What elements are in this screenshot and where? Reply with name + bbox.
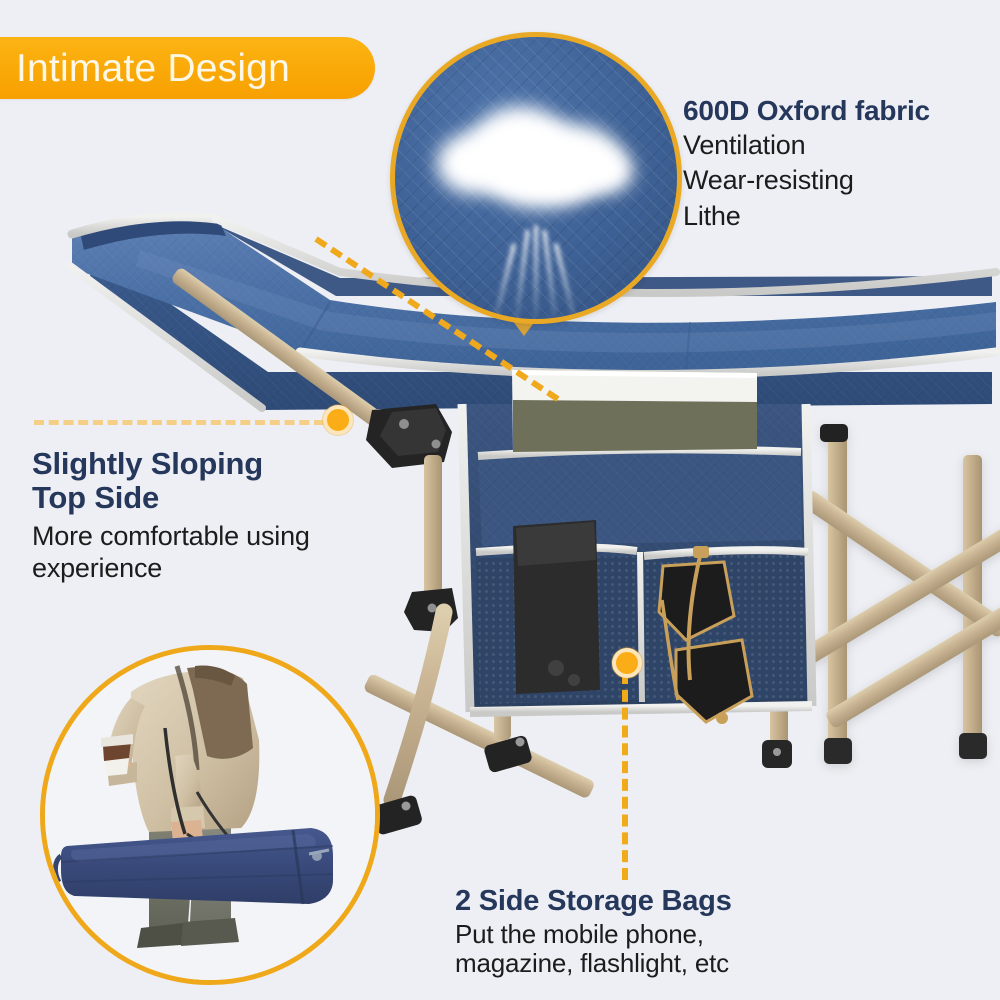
callout-circle-fabric	[390, 32, 682, 324]
leader-dot-bags	[612, 648, 642, 678]
steam-cloud-icon	[431, 99, 641, 224]
callout-text-slope: Slightly Sloping Top Side More comfortab…	[32, 447, 412, 585]
leader-line-bags-vertical	[622, 672, 628, 880]
callout-text-bags: 2 Side Storage Bags Put the mobile phone…	[455, 886, 985, 978]
mobile-phone-in-pocket	[513, 520, 600, 694]
air-flow-lines	[476, 217, 596, 324]
callout-body-bags: Put the mobile phone, magazine, flashlig…	[455, 920, 985, 978]
leader-line-slope-horizontal	[34, 420, 324, 425]
callout-body-slope: More comfortable using experience	[32, 521, 412, 585]
callout-heading-fabric: 600D Oxford fabric	[683, 96, 998, 126]
leader-dot-slope	[323, 405, 353, 435]
chair-frame-right	[794, 424, 1000, 764]
callout-circle-carry-bag	[40, 645, 380, 985]
callout-heading-bags: 2 Side Storage Bags	[455, 886, 985, 917]
infographic-canvas: Intimate Design 600D Oxford fabric Venti…	[0, 0, 1000, 1000]
section-title-label: Intimate Design	[0, 49, 290, 88]
section-title-banner: Intimate Design	[0, 37, 375, 99]
callout-heading-slope: Slightly Sloping Top Side	[32, 447, 412, 515]
callout-text-fabric: 600D Oxford fabric Ventilation Wear-resi…	[683, 96, 998, 235]
magazine-in-pocket	[512, 370, 757, 452]
callout-body-fabric: Ventilation Wear-resisting Lithe	[683, 128, 998, 235]
